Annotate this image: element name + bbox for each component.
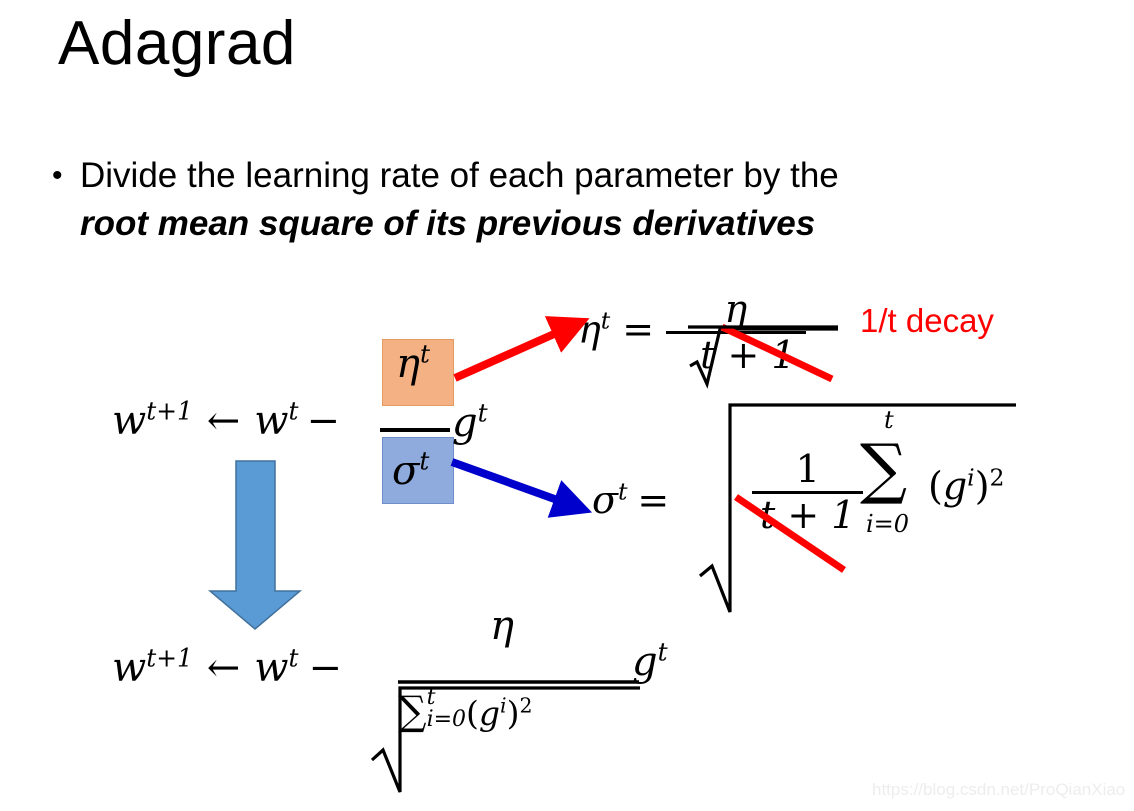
sigma-symbol-sup: t [419, 447, 429, 476]
sigma-def-g-sup: i [967, 463, 975, 491]
bottom-eq-w-next-sup: t+1 [146, 644, 193, 673]
down-arrow-icon [210, 461, 300, 629]
sigma-def-sum-upper: t [884, 406, 894, 434]
bullet-row: • Divide the learning rate of each param… [52, 152, 1062, 248]
bottom-eq-sum-lower: i=0 [427, 709, 466, 731]
sigma-def-paren-open: ( [928, 464, 943, 508]
bottom-eq-g-factor: g [632, 639, 658, 685]
bullet-line-2: root mean square of its previous derivat… [80, 200, 1062, 248]
main-eq-g: g [452, 400, 478, 446]
eta-def-lhs-sup: t [601, 307, 610, 335]
sigma-def-power: 2 [990, 463, 1005, 491]
bullet-line-1: Divide the learning rate of each paramet… [80, 152, 1062, 200]
bottom-eq-sum-limits: ti=0 [427, 687, 466, 732]
bullet-text: Divide the learning rate of each paramet… [80, 152, 1062, 248]
bottom-eq-w-next: w [112, 645, 146, 691]
eta-symbol: η [396, 341, 420, 387]
eta-numerator: ηt [396, 341, 430, 387]
bottom-eq-arrow: ← [193, 645, 255, 691]
sigma-def-frac-num: 1 [790, 450, 826, 491]
eta-def-denominator: t + 1 [666, 331, 805, 376]
page-title: Adagrad [58, 8, 296, 80]
bottom-eq-paren-close: ) [507, 693, 520, 732]
eta-def-lhs: η [578, 307, 601, 351]
bottom-eq-power: 2 [519, 693, 532, 717]
eta-def-equals: = [610, 307, 666, 351]
bottom-eq-sum-upper: t [427, 687, 466, 709]
eta-symbol-sup: t [420, 340, 430, 369]
sigma-def-g: g [943, 464, 967, 508]
bottom-eq-numerator: η [490, 603, 514, 649]
sigma-def-fraction: 1t + 1 [752, 450, 863, 536]
bullet-block: • Divide the learning rate of each param… [52, 152, 1062, 248]
main-eq-gradient: gt [452, 400, 488, 446]
bottom-equation: wt+1←wt−η∑ti=0(gi)2gt [112, 645, 600, 691]
bottom-eq-g: g [479, 693, 500, 732]
main-eq-w-next-sup: t+1 [146, 397, 193, 426]
bottom-eq-w: w [254, 645, 288, 691]
main-eq-w: w [254, 398, 288, 444]
sigma-symbol: σ [392, 448, 419, 494]
main-fraction-bar [380, 428, 450, 432]
sigma-denominator: σt [392, 448, 429, 494]
main-eq-arrow: ← [193, 398, 255, 444]
eta-definition-equation: ηt=ηt + 1 [578, 290, 806, 376]
eta-def-numerator: η [718, 290, 753, 331]
blue-arrow-icon [452, 462, 574, 506]
bottom-eq-g-factor-sup: t [658, 638, 668, 667]
bottom-eq-denominator: ∑ti=0(gi)2 [398, 687, 532, 734]
decay-annotation-label: 1/t decay [860, 302, 994, 340]
sigma-def-lhs-sup: t [618, 477, 627, 505]
bottom-eq-paren-open: ( [466, 693, 479, 732]
sigma-def-equals: = [627, 478, 681, 522]
sigma-def-sum-lower: i=0 [866, 510, 909, 538]
main-equation-left: wt+1←wt− [112, 398, 348, 444]
eta-def-fraction: ηt + 1 [666, 290, 805, 376]
sigma-def-frac-den: t + 1 [752, 491, 863, 536]
sigma-def-lhs: σ [592, 478, 618, 522]
bottom-eq-minus: − [299, 645, 353, 691]
bottom-eq-gradient: gt [632, 639, 668, 685]
main-eq-w-sup: t [289, 397, 299, 426]
sigma-def-sum-symbol: ∑ [860, 436, 907, 502]
sigma-def-paren-close: ) [975, 464, 990, 508]
slide-canvas: Adagrad • Divide the learning rate of ea… [0, 0, 1134, 811]
sigma-def-sum-lower-text: i=0 [866, 510, 909, 538]
bottom-eq-w-sup: t [289, 644, 299, 673]
main-eq-minus: − [299, 398, 349, 444]
red-arrow-icon [455, 326, 572, 378]
main-eq-g-sup: t [478, 399, 488, 428]
main-eq-w-next: w [112, 398, 146, 444]
sigma-definition-equation: σt=1t + 1∑ti=0(gi)2 [592, 478, 813, 522]
bottom-eq-sum-symbol: ∑ [398, 688, 427, 734]
bullet-marker-icon: • [52, 152, 80, 200]
sigma-def-summand: (gi)2 [928, 464, 1005, 508]
watermark: https://blog.csdn.net/ProQianXiao [872, 780, 1125, 800]
